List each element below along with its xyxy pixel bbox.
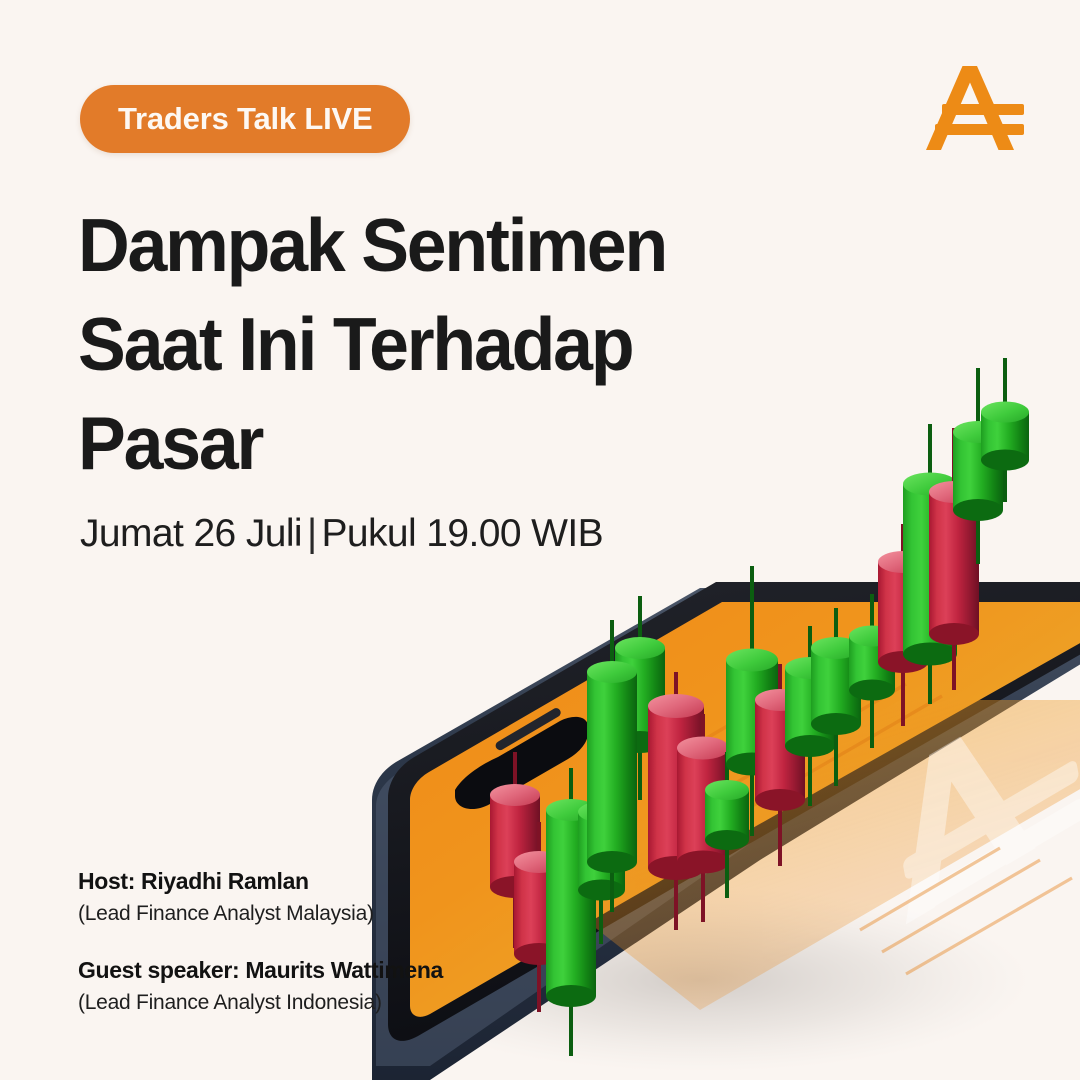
candle-4 xyxy=(578,778,625,944)
candle-16 xyxy=(903,424,957,704)
candle-1 xyxy=(490,752,540,948)
candle-5 xyxy=(615,596,665,800)
guest-role: (Lead Finance Analyst Indonesia) xyxy=(78,988,443,1018)
candle-3 xyxy=(546,768,596,1056)
candle-6 xyxy=(587,620,637,912)
candle-13 xyxy=(811,608,861,786)
phone-bezel xyxy=(388,582,1080,1041)
host-credit: Host: Riyadhi Ramlan (Lead Finance Analy… xyxy=(78,866,443,929)
phone-shadow xyxy=(370,888,1030,1072)
candle-17 xyxy=(929,428,979,690)
schedule-separator: | xyxy=(302,512,322,555)
live-badge[interactable]: Traders Talk LIVE xyxy=(80,85,410,153)
schedule-line: Jumat 26 Juli|Pukul 19.00 WIB xyxy=(80,512,603,556)
live-badge-label: Traders Talk LIVE xyxy=(118,101,372,137)
headline-line-3: Pasar xyxy=(78,394,804,493)
candle-11 xyxy=(755,664,805,866)
phone-speaker xyxy=(494,706,562,751)
candle-7 xyxy=(648,672,704,930)
candle-9 xyxy=(705,752,749,898)
a-logo-watermark-icon xyxy=(880,677,1080,924)
candle-2 xyxy=(514,822,564,1012)
candle-10 xyxy=(726,566,778,836)
host-role: (Lead Finance Analyst Malaysia) xyxy=(78,899,443,929)
candle-8 xyxy=(677,714,729,922)
headline-line-2: Saat Ini Terhadap xyxy=(78,295,804,394)
speaker-credits: Host: Riyadhi Ramlan (Lead Finance Analy… xyxy=(78,866,443,1018)
candle-12 xyxy=(785,626,835,806)
phone-side-rail xyxy=(372,588,1080,1080)
guest-credit: Guest speaker: Maurits Wattimena (Lead F… xyxy=(78,955,443,1018)
phone-notch xyxy=(455,717,588,809)
promo-poster: Traders Talk LIVE Dampak Sentimen Saat I… xyxy=(0,0,1080,1080)
candle-18 xyxy=(953,368,1003,564)
candle-14 xyxy=(849,594,895,748)
host-name: Host: Riyadhi Ramlan xyxy=(78,866,443,896)
smartphone xyxy=(372,582,1080,1080)
schedule-time: Pukul 19.00 WIB xyxy=(322,512,603,555)
guest-name: Guest speaker: Maurits Wattimena xyxy=(78,955,443,985)
headline-line-1: Dampak Sentimen xyxy=(78,196,804,295)
volume-button xyxy=(446,808,497,846)
phone-screen xyxy=(410,602,1080,1017)
page-title: Dampak Sentimen Saat Ini Terhadap Pasar xyxy=(78,196,838,493)
schedule-date: Jumat 26 Juli xyxy=(80,512,302,555)
candle-15 xyxy=(878,524,928,726)
candle-19 xyxy=(981,358,1029,502)
anggaran-a-logo-icon xyxy=(920,56,1028,160)
